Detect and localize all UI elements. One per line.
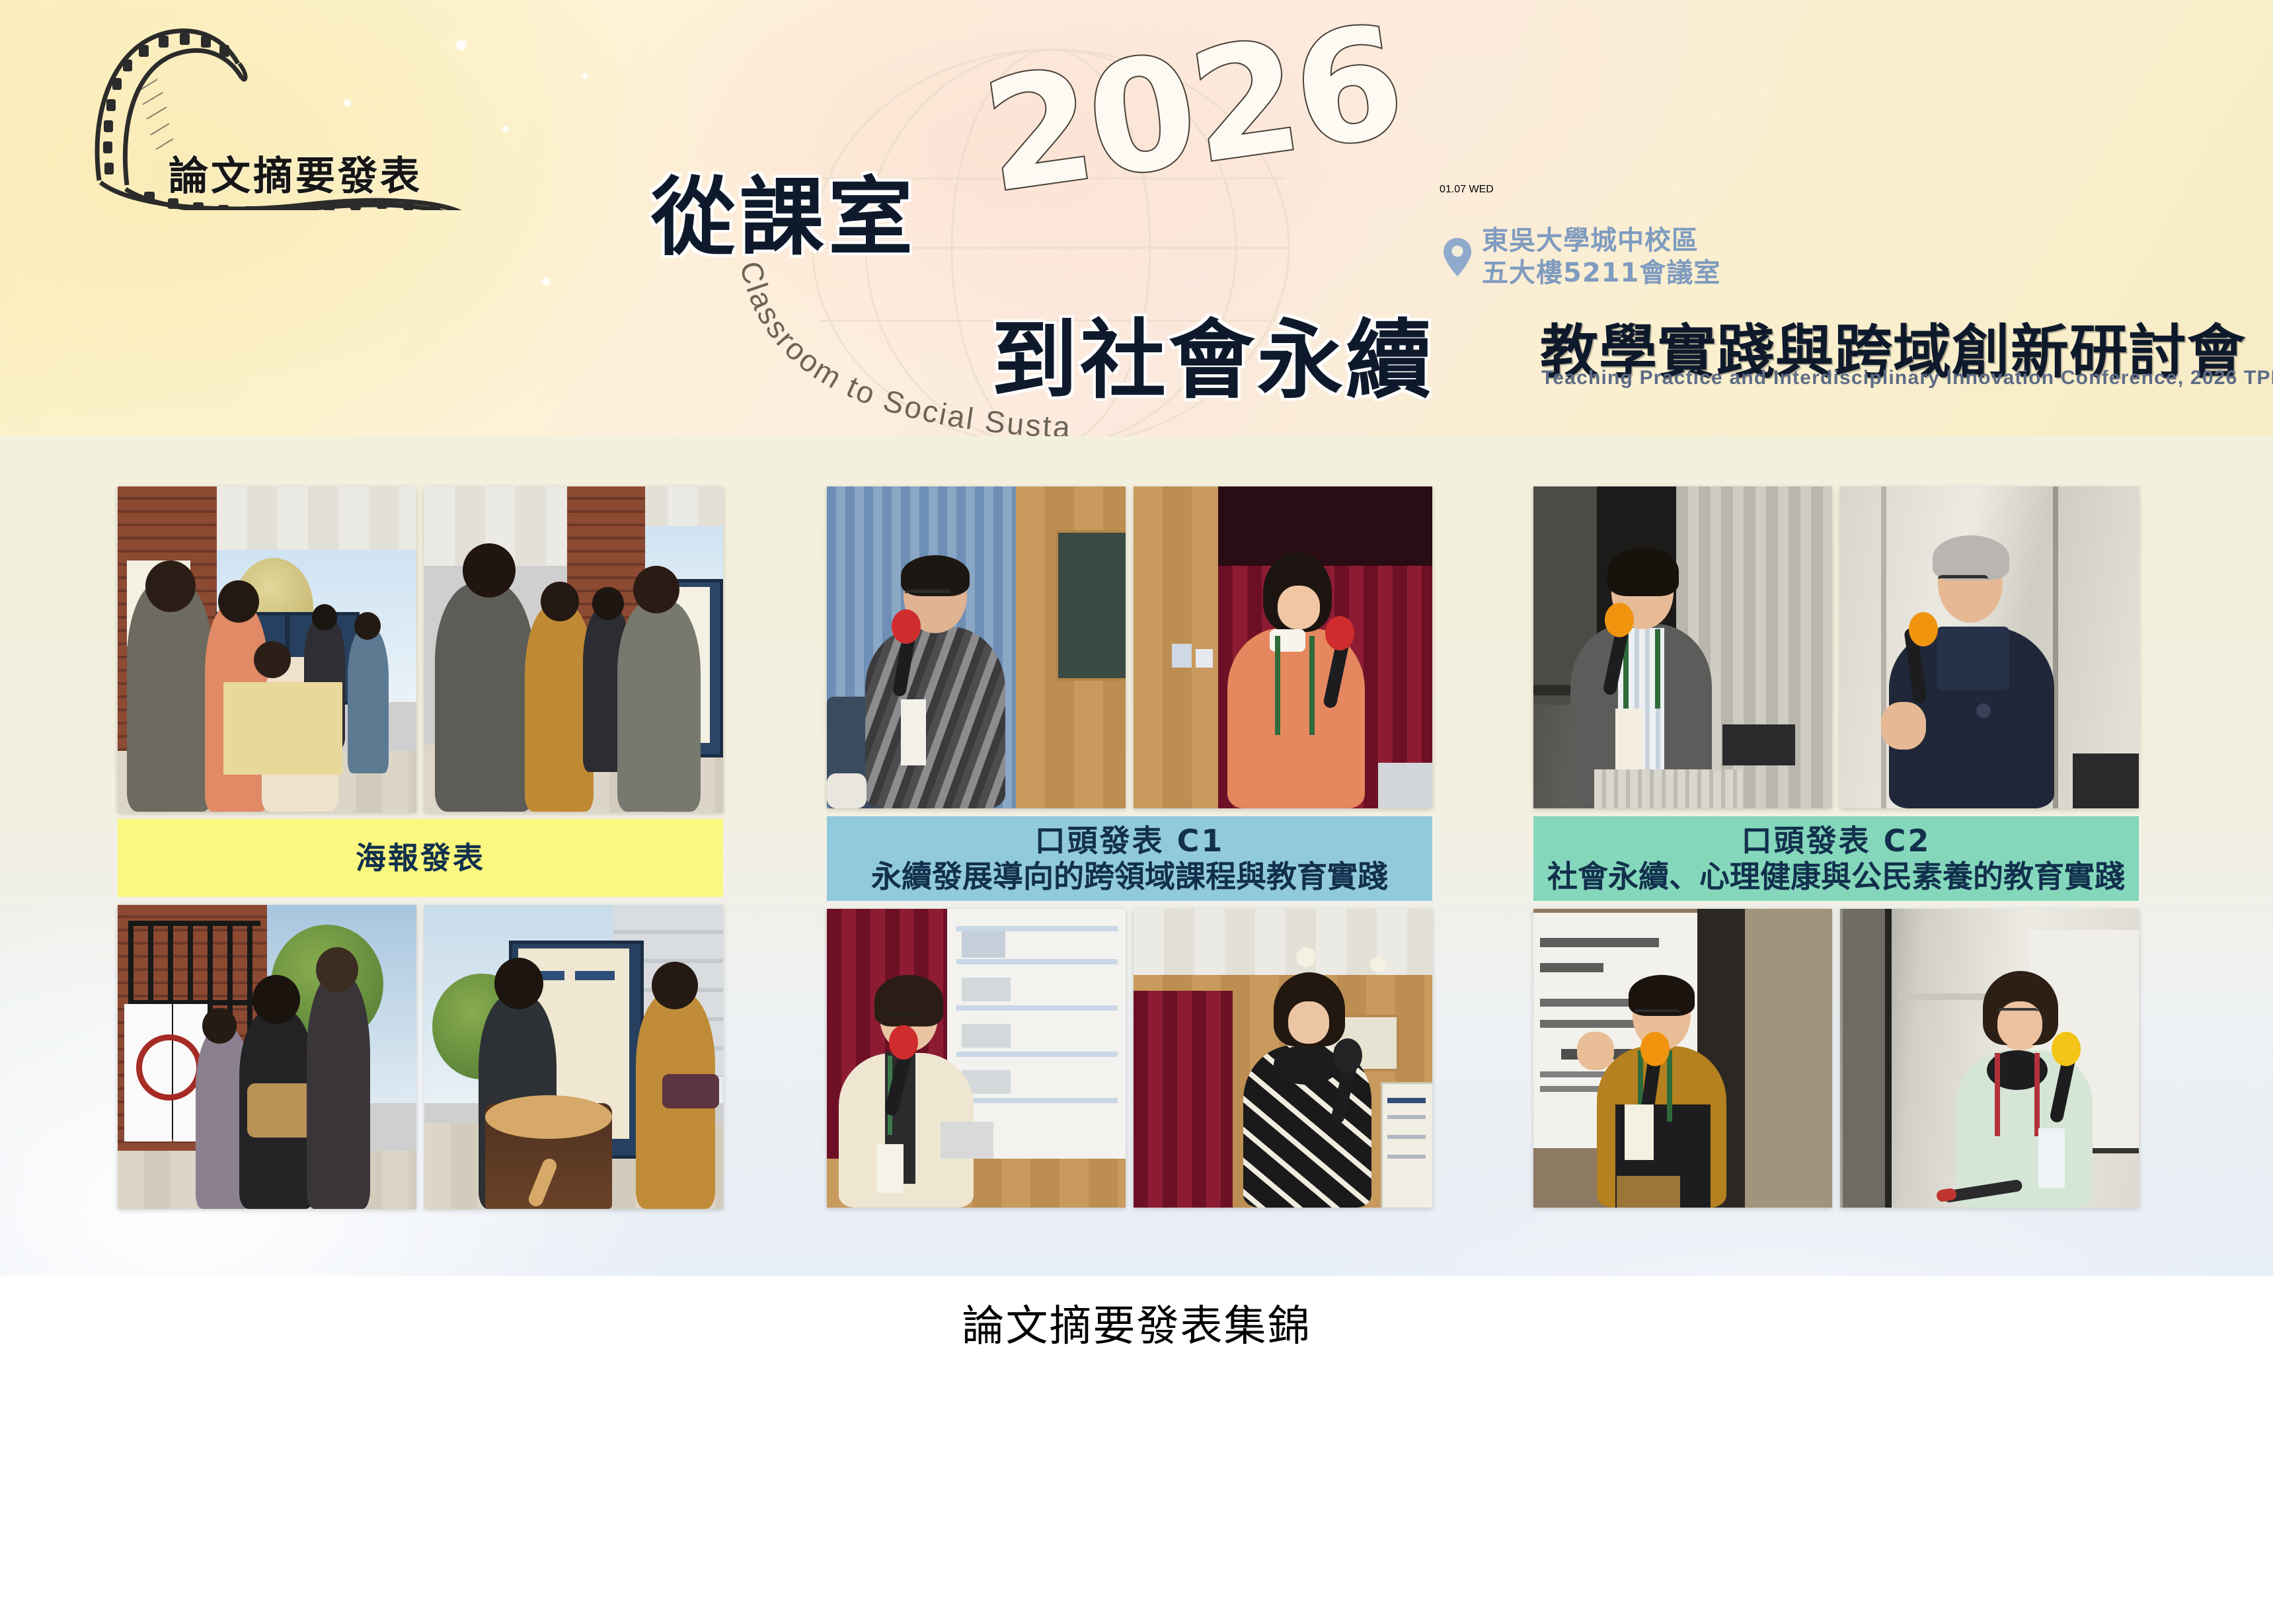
venue-line-1: 東吳大學城中校區 <box>1482 225 1720 257</box>
caption-line-1: 海報發表 <box>356 842 485 874</box>
speaker-male-glasses-blue-curtain-photo <box>827 486 1126 808</box>
poster-boards-campus-gate-photo <box>118 905 416 1209</box>
sparkle <box>502 126 509 132</box>
caption-poster: 海報發表 <box>118 819 723 897</box>
speaker-male-mustard-jacket-slide-photo <box>1533 909 1832 1208</box>
photo-row-top <box>1533 486 2141 808</box>
event-venue: 東吳大學城中校區 五大樓5211會議室 <box>1442 225 1720 290</box>
caption-line-2: 社會永續、心理健康與公民素養的教育實踐 <box>1547 861 2125 892</box>
caption-line-2: 永續發展導向的跨領域課程與教育實踐 <box>871 861 1388 892</box>
photo-row-top <box>118 486 726 812</box>
caption-line-1: 口頭發表 C1 <box>1035 825 1225 857</box>
slide-canvas: 論文摘要發表 2026 從課室 到社會永續 Classroom to Socia… <box>0 0 2273 1276</box>
tagline-arc: Classroom to Social Sustainability <box>720 251 1276 436</box>
deck-caption: 論文摘要發表集錦 <box>0 1292 2273 1353</box>
year-text: 2026 <box>976 0 1411 225</box>
conference-title-en: Teaching Practice and Interdisciplinary … <box>1541 367 2273 389</box>
speaker-male-grey-jacket-podium-photo <box>1533 486 1832 808</box>
venue-lines: 東吳大學城中校區 五大樓5211會議室 <box>1482 225 1720 290</box>
speaker-senior-male-navy-coat-photo <box>1840 486 2139 808</box>
badge-label: 論文摘要發表 <box>169 144 422 202</box>
caption-oral-c1: 口頭發表 C1 永續發展導向的跨領域課程與教育實踐 <box>827 816 1432 901</box>
poster-header: 論文摘要發表 2026 從課室 到社會永續 Classroom to Socia… <box>0 0 2273 436</box>
event-date: 01.07 WED <box>1440 184 1724 196</box>
venue-line-2: 五大樓5211會議室 <box>1482 257 1720 290</box>
speaker-female-mint-cardigan-photo <box>1840 909 2139 1208</box>
speaker-female-orange-red-curtain-photo <box>1134 486 1432 808</box>
poster-board-presenter-photo <box>424 905 723 1209</box>
photo-row-top <box>827 486 1435 808</box>
sparkle <box>542 278 550 286</box>
group-oral-c1: 口頭發表 C1 永續發展導向的跨領域課程與教育實踐 <box>827 486 1435 1208</box>
photo-row-bottom <box>1533 909 2141 1208</box>
poster-session-discussion-photo <box>424 486 723 812</box>
group-poster: 海報發表 <box>118 486 726 1209</box>
group-oral-c2: 口頭發表 C2 社會永續、心理健康與公民素養的教育實踐 <box>1533 486 2141 1208</box>
sparkle <box>582 73 588 79</box>
photo-row-bottom <box>118 905 726 1209</box>
photo-row-bottom <box>827 909 1435 1208</box>
caption-oral-c2: 口頭發表 C2 社會永續、心理健康與公民素養的教育實踐 <box>1533 816 2139 901</box>
poster-session-hall-photo <box>118 486 416 812</box>
location-pin-icon <box>1442 237 1473 278</box>
caption-line-1: 口頭發表 C2 <box>1742 825 1931 857</box>
film-strip-logo: 論文摘要發表 <box>26 12 463 210</box>
speaker-female-glasses-slide-photo <box>827 909 1126 1208</box>
speaker-female-patterned-sweater-photo <box>1134 909 1432 1208</box>
tagline-en: Classroom to Social Sustainability <box>720 251 1073 436</box>
